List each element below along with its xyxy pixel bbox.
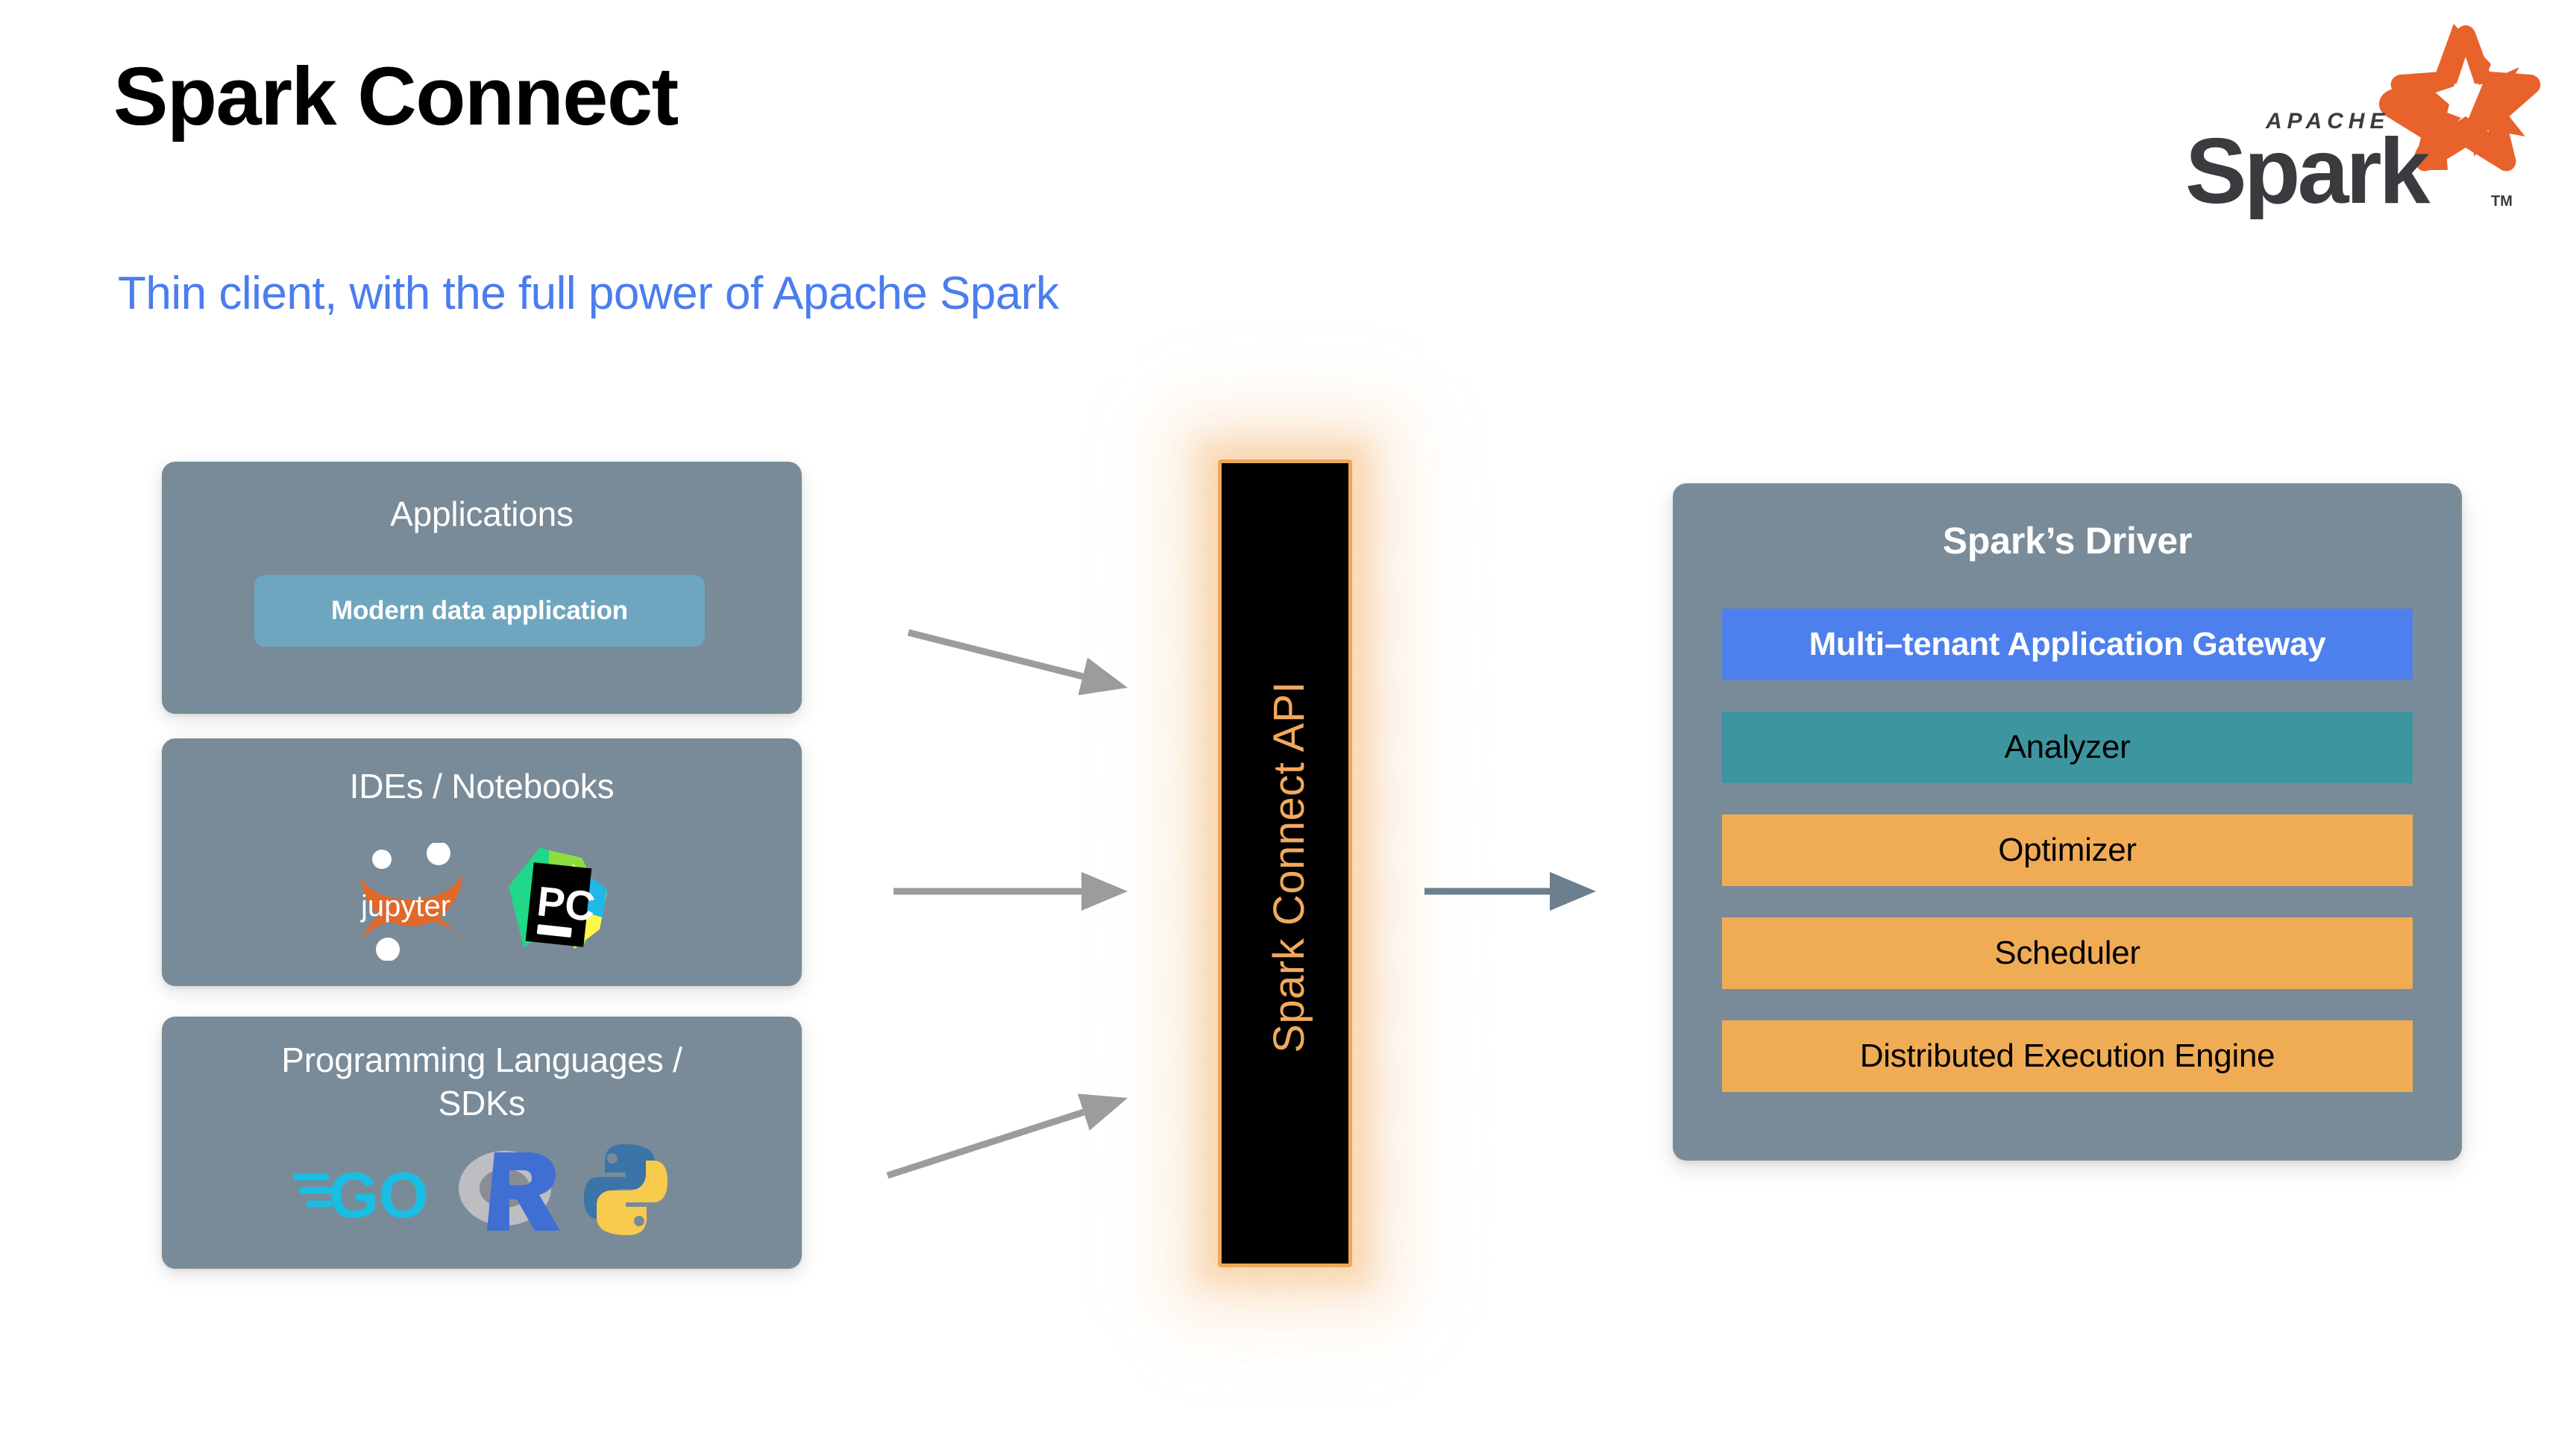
python-logo bbox=[581, 1143, 670, 1240]
driver-row-label: Multi–tenant Application Gateway bbox=[1809, 626, 2326, 663]
go-wordmark: GO bbox=[329, 1160, 429, 1231]
spark-driver-row-list: Multi–tenant Application GatewayAnalyzer… bbox=[1722, 609, 2413, 1092]
jupyter-wordmark: jupyter bbox=[360, 890, 450, 923]
spark-wordmark: Spark bbox=[2185, 120, 2431, 219]
driver-row-label: Distributed Execution Engine bbox=[1860, 1038, 2275, 1075]
card-languages-title: Programming Languages / SDKs bbox=[162, 1039, 802, 1125]
arrow-ides-to-api bbox=[893, 872, 1128, 911]
spark-connect-api-label: Spark Connect API bbox=[1222, 463, 1356, 1271]
arrow-languages-to-api bbox=[888, 1093, 1128, 1176]
go-logo: GO bbox=[293, 1149, 442, 1234]
card-languages-title-line1: Programming Languages / bbox=[162, 1039, 802, 1082]
card-ides-title: IDEs / Notebooks bbox=[162, 765, 802, 809]
card-applications: Applications Modern data application bbox=[162, 462, 802, 714]
pycharm-logo: PC bbox=[501, 843, 615, 964]
card-applications-title: Applications bbox=[162, 493, 802, 536]
driver-row-distributed-execution-engine[interactable]: Distributed Execution Engine bbox=[1722, 1020, 2413, 1092]
card-programming-languages: Programming Languages / SDKs GO bbox=[162, 1017, 802, 1269]
spark-driver-title: Spark’s Driver bbox=[1673, 519, 2462, 562]
arrow-applications-to-api bbox=[908, 633, 1128, 695]
driver-row-label: Optimizer bbox=[1998, 832, 2137, 869]
ides-logo-row: jupyter PC bbox=[162, 843, 802, 964]
jupyter-logo: jupyter bbox=[349, 843, 476, 964]
spark-connect-api-bar: Spark Connect API bbox=[1218, 459, 1352, 1267]
spark-driver-panel: Spark’s Driver Multi–tenant Application … bbox=[1673, 483, 2462, 1161]
page-subtitle: Thin client, with the full power of Apac… bbox=[118, 269, 1058, 319]
r-logo bbox=[456, 1142, 568, 1241]
driver-row-label: Analyzer bbox=[2005, 729, 2131, 766]
driver-row-analyzer[interactable]: Analyzer bbox=[1722, 712, 2413, 783]
languages-logo-row: GO bbox=[162, 1142, 802, 1241]
modern-data-application-pill[interactable]: Modern data application bbox=[254, 575, 705, 647]
trademark-mark: TM bbox=[2491, 193, 2513, 210]
apache-spark-logo: APACHE Spark TM bbox=[2154, 18, 2549, 219]
driver-row-scheduler[interactable]: Scheduler bbox=[1722, 917, 2413, 989]
driver-row-optimizer[interactable]: Optimizer bbox=[1722, 814, 2413, 886]
card-languages-title-line2: SDKs bbox=[162, 1082, 802, 1126]
arrow-api-to-driver bbox=[1424, 872, 1596, 911]
driver-row-label: Scheduler bbox=[1994, 935, 2140, 972]
driver-row-multi-tenant-application-gateway[interactable]: Multi–tenant Application Gateway bbox=[1722, 609, 2413, 680]
card-ides-notebooks: IDEs / Notebooks jupyter PC bbox=[162, 738, 802, 986]
page-title: Spark Connect bbox=[113, 54, 678, 140]
pycharm-letters: PC bbox=[535, 877, 597, 930]
